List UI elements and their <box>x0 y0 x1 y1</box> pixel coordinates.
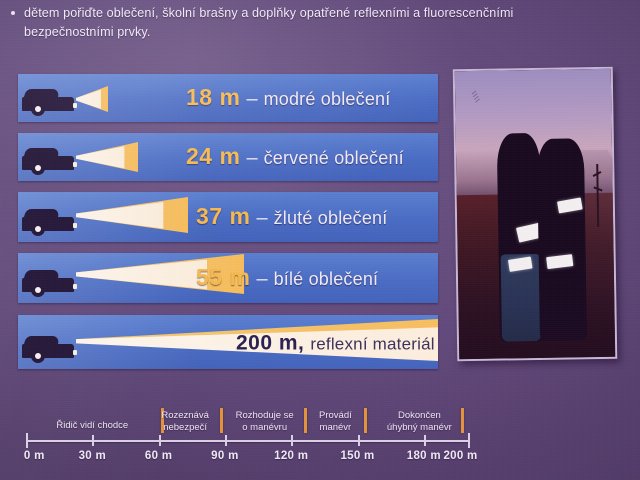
phase-label: Rozeznávánebezpečí <box>161 410 209 434</box>
phase-label-line: Provádí <box>319 410 352 422</box>
chart-row-label: 200 m,reflexní materiál <box>236 332 435 356</box>
chart-row-label: 24 m–červené oblečení <box>186 143 404 170</box>
reaction-distance-ruler: 0 m30 m60 m90 m120 m150 m180 m200 mŘidič… <box>0 398 640 470</box>
car-body <box>22 156 74 170</box>
intro-line-1: dětem pořiďte oblečení, školní brašny a … <box>8 4 632 23</box>
car-wheel <box>31 102 45 116</box>
dash-separator: – <box>250 268 273 290</box>
car-headlight <box>73 350 77 355</box>
phase-label-line: o manévru <box>236 422 294 434</box>
ruler-tick <box>291 435 293 446</box>
car-body <box>22 217 74 231</box>
distance-value: 24 m <box>186 143 240 169</box>
phase-label: Dokončenúhybný manévr <box>387 410 452 434</box>
chart-row: 37 m–žluté oblečení <box>18 192 438 242</box>
clothing-description: reflexní materiál <box>310 335 434 354</box>
car-body <box>22 278 74 292</box>
beam-outer <box>76 197 188 233</box>
beam-inner <box>76 86 108 112</box>
ruler-tick-label: 180 m <box>407 450 441 462</box>
intro-paragraph: dětem pořiďte oblečení, školní brašny a … <box>8 4 632 42</box>
bullet-icon <box>11 11 15 15</box>
ruler-tick-label: 60 m <box>145 450 172 462</box>
phase-separator <box>461 408 464 433</box>
phase-label: Rozhoduje seo manévru <box>236 410 294 434</box>
ruler-tick-label: 0 m <box>24 450 45 462</box>
chart-row: 18 m–modré oblečení <box>18 74 438 122</box>
car-headlight <box>73 284 77 289</box>
beam-inner <box>76 197 188 233</box>
photo-person-right <box>537 138 587 340</box>
pedestrians-with-reflective-strips-photo: \\\\ <box>453 67 618 361</box>
distance-value: 37 m <box>196 203 250 229</box>
visibility-distance-chart: 18 m–modré oblečení 24 m–červené oblečen… <box>18 74 440 369</box>
clothing-description: modré oblečení <box>264 89 391 109</box>
phase-label-line: Řidič vidí chodce <box>56 420 128 432</box>
car-headlight <box>73 162 77 167</box>
car-icon <box>22 330 76 364</box>
reflective-strip <box>557 197 583 213</box>
beam-outer <box>76 142 138 172</box>
phase-label-line: Rozeznává <box>161 410 209 422</box>
car-wheel <box>31 283 45 297</box>
dash-separator: – <box>240 147 263 169</box>
dash-separator: – <box>250 207 273 229</box>
reflective-strip <box>546 254 573 269</box>
headlight-beam-icon <box>76 86 108 112</box>
car-icon <box>22 264 76 298</box>
car-body <box>22 97 74 111</box>
car-icon <box>22 83 76 117</box>
phase-label-line: manévr <box>319 422 352 434</box>
clothing-description: žluté oblečení <box>274 208 388 228</box>
beam-outer <box>76 86 108 112</box>
car-wheel <box>31 161 45 175</box>
car-body <box>22 344 74 358</box>
ruler-tick <box>159 435 161 446</box>
phase-label-line: Rozhoduje se <box>236 410 294 422</box>
ruler-tick <box>92 435 94 446</box>
distance-value: 55 m <box>196 264 250 290</box>
chart-row-label: 18 m–modré oblečení <box>186 84 390 111</box>
ruler-tick-label: 120 m <box>274 450 308 462</box>
infographic-page: dětem pořiďte oblečení, školní brašny a … <box>0 0 640 480</box>
ruler-tick-label: 200 m <box>443 450 477 462</box>
chart-row: 24 m–červené oblečení <box>18 133 438 181</box>
ruler-tick <box>26 433 28 448</box>
intro-line-2: bezpečnostními prvky. <box>8 23 632 42</box>
ruler-tick-label: 150 m <box>340 450 374 462</box>
ruler-tick-label: 90 m <box>211 450 238 462</box>
dash-separator: – <box>240 88 263 110</box>
phase-label: Provádímanévr <box>319 410 352 434</box>
photo-person-left <box>496 133 543 341</box>
beam-inner <box>76 142 138 172</box>
phase-separator <box>364 408 367 433</box>
ruler-tick <box>468 433 470 448</box>
phase-separator <box>220 408 223 433</box>
chart-row: 200 m,reflexní materiál <box>18 315 438 369</box>
ruler-tick <box>358 435 360 446</box>
chart-row-label: 37 m–žluté oblečení <box>196 203 387 230</box>
car-wheel <box>31 222 45 236</box>
phase-label-line: Dokončen <box>387 410 452 422</box>
ruler-axis <box>26 440 468 442</box>
car-headlight <box>73 103 77 108</box>
phase-label: Řidič vidí chodce <box>56 420 128 432</box>
clothing-description: bílé oblečení <box>274 269 379 289</box>
distance-value: 18 m <box>186 84 240 110</box>
ruler-tick <box>424 435 426 446</box>
ruler-tick-label: 30 m <box>79 450 106 462</box>
chart-row: 55 m–bílé oblečení <box>18 253 438 303</box>
car-headlight <box>73 223 77 228</box>
phase-label-line: nebezpečí <box>161 422 209 434</box>
car-icon <box>22 142 76 176</box>
headlight-beam-icon <box>76 142 138 172</box>
ruler-tick <box>225 435 227 446</box>
photo-frame: \\\\ <box>453 67 618 361</box>
clothing-description: červené oblečení <box>264 148 404 168</box>
distance-value: 200 m, <box>236 332 304 355</box>
phase-separator <box>304 408 307 433</box>
headlight-beam-icon <box>76 197 188 233</box>
car-icon <box>22 203 76 237</box>
chart-row-label: 55 m–bílé oblečení <box>196 264 378 291</box>
car-wheel <box>31 349 45 363</box>
phase-label-line: úhybný manévr <box>387 422 452 434</box>
